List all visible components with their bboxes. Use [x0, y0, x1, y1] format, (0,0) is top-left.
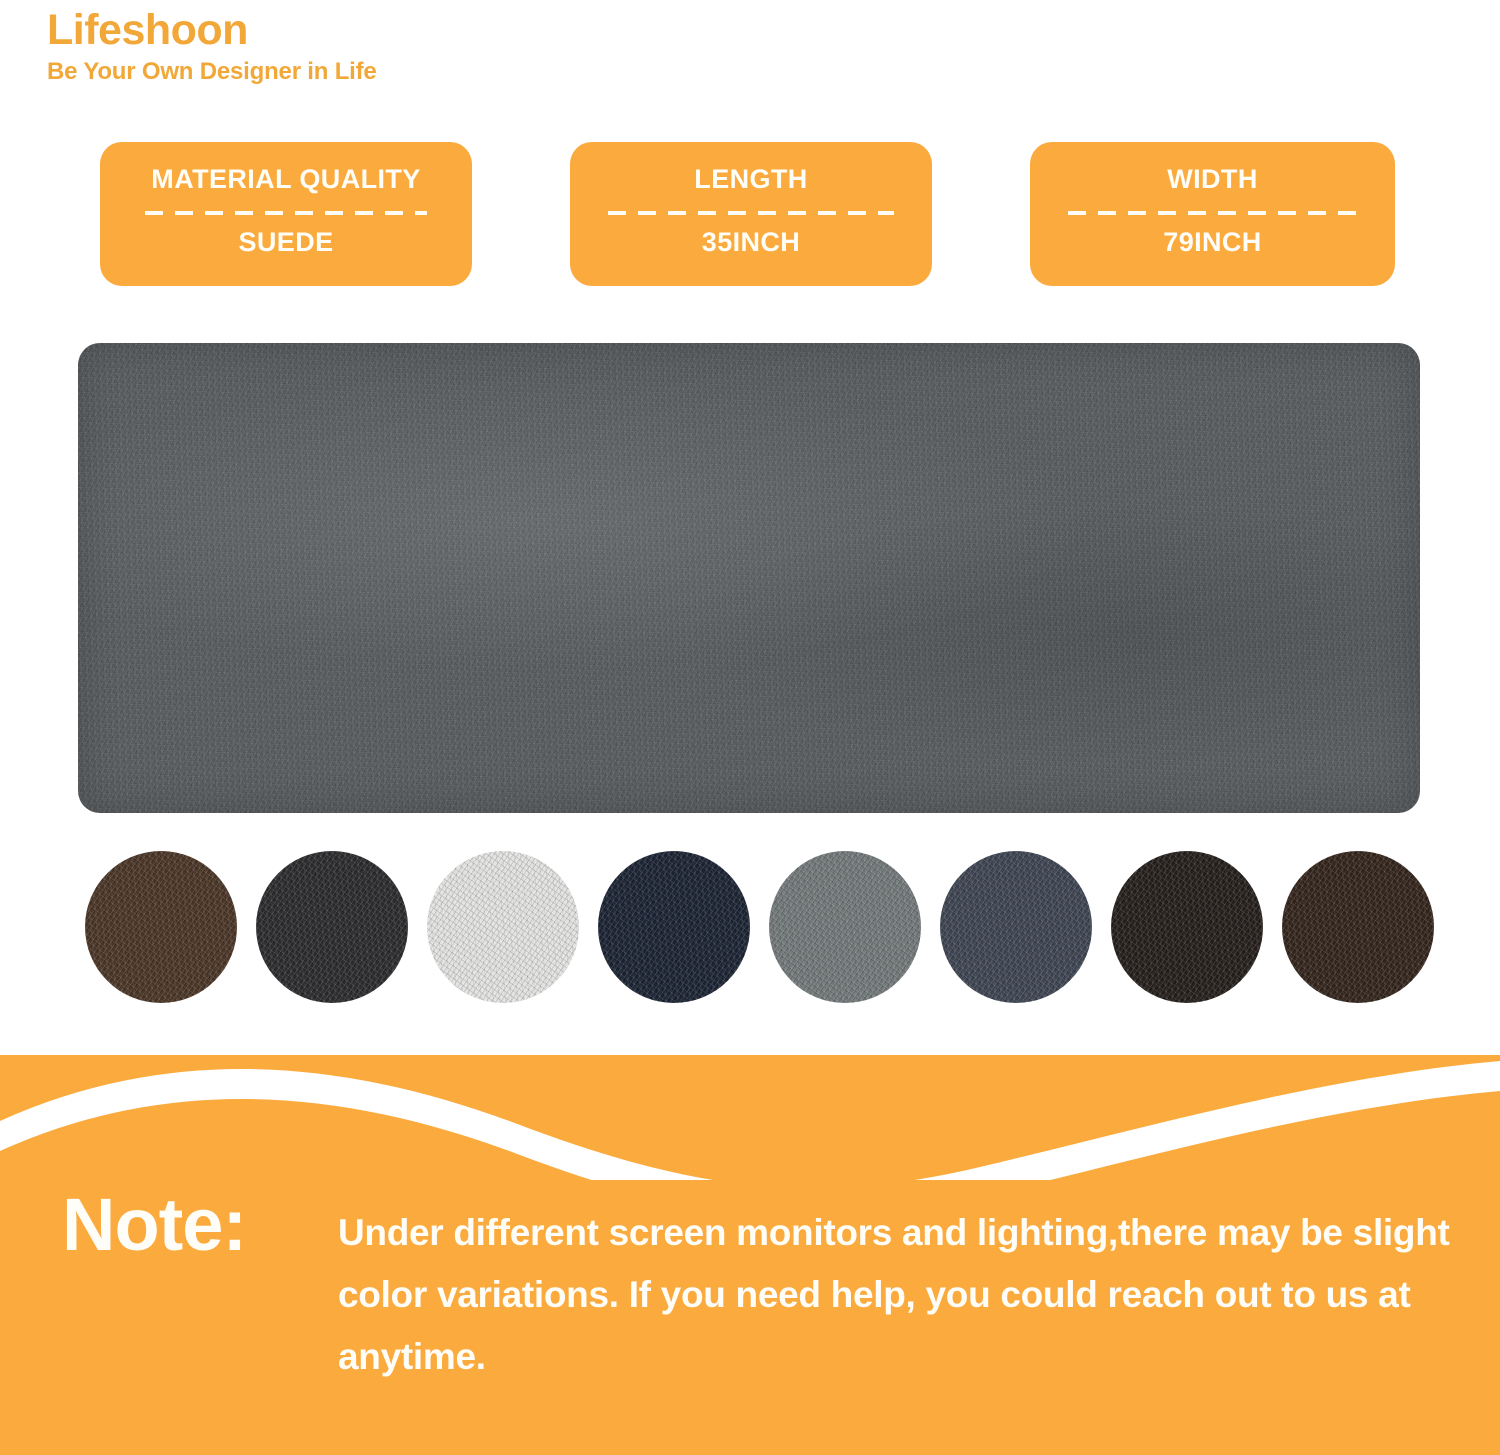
- note-label: Note:: [62, 1188, 246, 1262]
- note-panel: Note: Under different screen monitors an…: [0, 1180, 1500, 1455]
- spec-value: 79INCH: [1163, 229, 1261, 256]
- color-swatch-slate-blue-grey[interactable]: [940, 851, 1092, 1003]
- spec-badge-material-quality: MATERIAL QUALITY SUEDE: [100, 142, 472, 286]
- dashed-divider: [145, 211, 427, 215]
- color-swatch-chocolate-brown[interactable]: [1282, 851, 1434, 1003]
- color-swatch-medium-grey[interactable]: [769, 851, 921, 1003]
- brand-header: Lifeshoon Be Your Own Designer in Life: [47, 8, 747, 86]
- spec-badge-length: LENGTH 35INCH: [570, 142, 932, 286]
- color-swatch-cream-white[interactable]: [427, 851, 579, 1003]
- brand-name: Lifeshoon: [47, 8, 747, 53]
- spec-badge-width: WIDTH 79INCH: [1030, 142, 1395, 286]
- brand-tagline: Be Your Own Designer in Life: [47, 59, 747, 85]
- spec-value: SUEDE: [238, 229, 333, 256]
- spec-value: 35INCH: [702, 229, 800, 256]
- dashed-divider: [608, 211, 895, 215]
- spec-label: LENGTH: [694, 166, 807, 193]
- spec-label: WIDTH: [1167, 166, 1257, 193]
- note-text: Under different screen monitors and ligh…: [338, 1202, 1463, 1388]
- dashed-divider: [1068, 211, 1358, 215]
- color-swatch-charcoal-black[interactable]: [256, 851, 408, 1003]
- color-swatch-row: [0, 851, 1500, 1007]
- product-image-rug: [78, 343, 1420, 813]
- spec-badge-row: MATERIAL QUALITY SUEDE LENGTH 35INCH WID…: [0, 142, 1500, 290]
- color-swatch-dark-brown[interactable]: [85, 851, 237, 1003]
- spec-label: MATERIAL QUALITY: [151, 166, 420, 193]
- color-swatch-navy-blue[interactable]: [598, 851, 750, 1003]
- color-swatch-black-brown[interactable]: [1111, 851, 1263, 1003]
